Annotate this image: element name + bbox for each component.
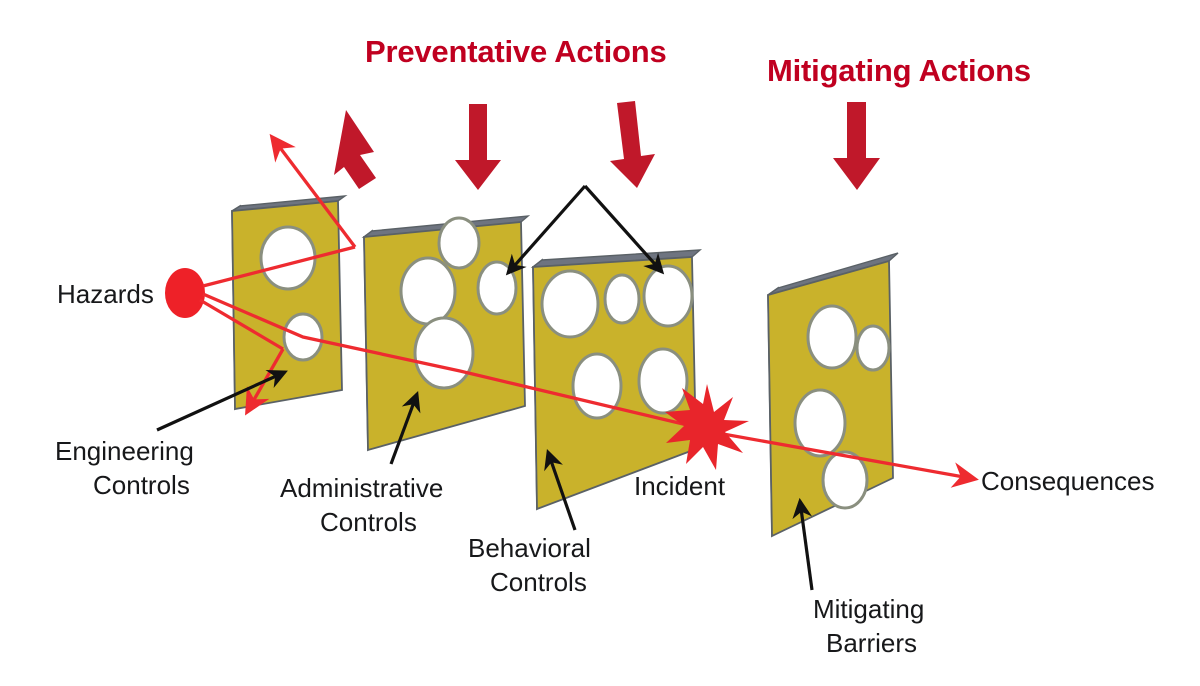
hole [605, 275, 639, 323]
hole [808, 306, 856, 368]
title-mitigating-actions: Mitigating Actions [767, 53, 1031, 88]
hole [542, 271, 598, 337]
hole [415, 318, 473, 388]
hole [439, 218, 479, 268]
cheese-slice-mitigating-barriers [768, 253, 898, 536]
cheese-slice-engineering-controls [232, 196, 345, 409]
label-incident: Incident [634, 471, 726, 501]
action-arrows [334, 101, 880, 190]
label-administrative-controls-line2: Controls [320, 507, 417, 537]
hole [857, 326, 889, 370]
title-preventative-actions: Preventative Actions [365, 34, 667, 69]
hole [823, 452, 867, 508]
label-behavioral-controls-line1: Behavioral [468, 533, 591, 563]
mitigating-arrow-1 [833, 102, 880, 190]
preventative-arrow-3 [610, 101, 655, 188]
swiss-cheese-model-diagram: Preventative Actions Mitigating Actions … [0, 0, 1200, 686]
hole [644, 266, 692, 326]
label-hazards: Hazards [57, 279, 154, 309]
label-engineering-controls-line2: Controls [93, 470, 190, 500]
label-behavioral-controls-line2: Controls [490, 567, 587, 597]
hole [639, 349, 687, 413]
cheese-slice-administrative-controls [364, 216, 528, 450]
diagram-canvas: Preventative Actions Mitigating Actions … [0, 0, 1200, 686]
label-engineering-controls-line1: Engineering [55, 436, 194, 466]
hole [795, 390, 845, 456]
label-mitigating-barriers-line2: Barriers [826, 628, 917, 658]
hazard-source-marker [165, 268, 205, 318]
label-consequences: Consequences [981, 466, 1154, 496]
preventative-arrow-2 [455, 104, 501, 190]
label-administrative-controls-line1: Administrative [280, 473, 443, 503]
preventative-arrow-1 [334, 110, 376, 189]
label-mitigating-barriers-line1: Mitigating [813, 594, 924, 624]
hole [401, 258, 455, 324]
